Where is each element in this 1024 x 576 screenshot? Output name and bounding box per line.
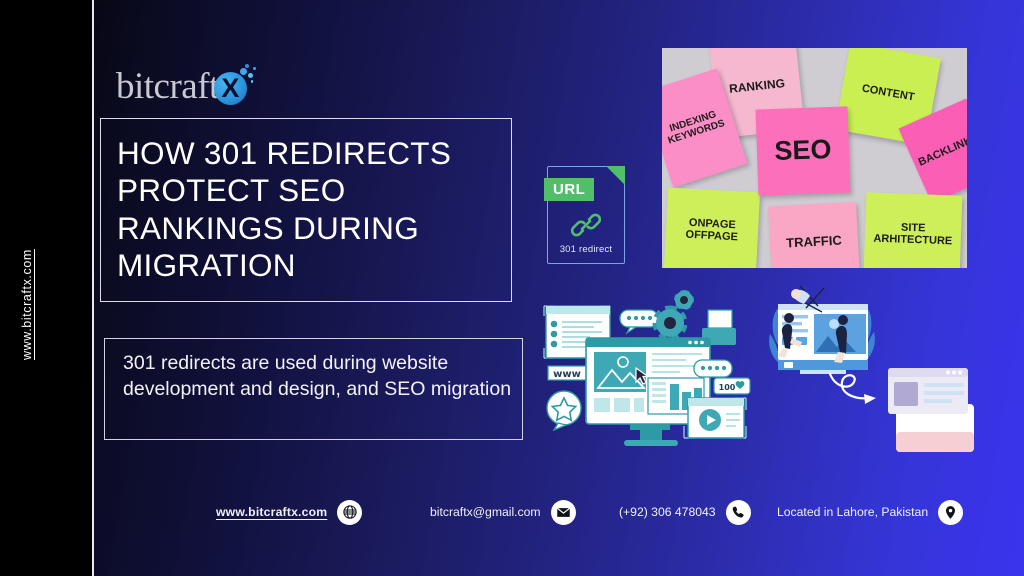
footer-location-label: Located in Lahore, Pakistan — [777, 505, 928, 519]
sticky-note: TRAFFIC — [768, 202, 860, 268]
page-subtitle: 301 redirects are used during website de… — [123, 351, 513, 403]
phone-icon[interactable] — [726, 500, 751, 525]
logo-x-mark-icon: X — [210, 63, 262, 109]
logo-dot-1 — [240, 68, 247, 75]
svg-text:www: www — [553, 369, 581, 380]
globe-icon[interactable] — [337, 500, 362, 525]
vertical-website-url[interactable]: www.bitcraftx.com — [20, 120, 50, 360]
web-design-illustration: www 100 — [532, 282, 762, 452]
footer-website-label: www.bitcraftx.com — [216, 505, 327, 519]
page-title: How 301 Redirects Protect SEO Rankings D… — [117, 135, 509, 285]
logo-wordmark: bitcraft — [116, 68, 219, 105]
logo-dot-2 — [248, 73, 253, 78]
likes-count: 100 — [719, 383, 736, 392]
poster-canvas: www.bitcraftx.com bitcraft X How 301 Red… — [0, 0, 1024, 576]
logo-dot-5 — [251, 80, 254, 83]
url-badge: URL — [544, 178, 594, 201]
footer-location[interactable]: Located in Lahore, Pakistan — [777, 494, 963, 530]
footer-phone-label: (+92) 306 478043 — [619, 505, 716, 519]
left-vertical-rule — [92, 0, 94, 576]
headline-box: How 301 Redirects Protect SEO Rankings D… — [100, 118, 512, 302]
footer-website[interactable]: www.bitcraftx.com — [216, 494, 362, 530]
footer-email-label: bitcraftx@gmail.com — [430, 505, 541, 519]
redirect-caption: 301 redirect — [547, 244, 625, 255]
location-pin-icon[interactable] — [938, 500, 963, 525]
contact-footer: www.bitcraftx.com bitcraftx@gmail.com (+… — [0, 494, 1024, 530]
brand-logo[interactable]: bitcraft X — [116, 63, 262, 109]
sticky-note: ONPAGE OFFPAGE — [664, 188, 760, 268]
footer-phone[interactable]: (+92) 306 478043 — [619, 494, 751, 530]
logo-dot-3 — [245, 64, 249, 68]
footer-email[interactable]: bitcraftx@gmail.com — [430, 494, 576, 530]
envelope-icon[interactable] — [551, 500, 576, 525]
site-migration-illustration — [762, 282, 990, 452]
seo-sticky-notes-photo: RANKINGCONTENTINDEXING KEYWORDSSEOBACKLI… — [662, 48, 967, 268]
chain-link-icon — [571, 210, 601, 245]
sticky-note: SEO — [756, 106, 851, 195]
subtitle-box: 301 redirects are used during website de… — [104, 338, 523, 440]
sticky-note: SITE ARHITECTURE — [864, 192, 963, 268]
logo-letter-x: X — [214, 72, 247, 105]
logo-dot-4 — [253, 67, 256, 70]
url-redirect-document-icon: URL 301 redirect — [547, 166, 625, 264]
